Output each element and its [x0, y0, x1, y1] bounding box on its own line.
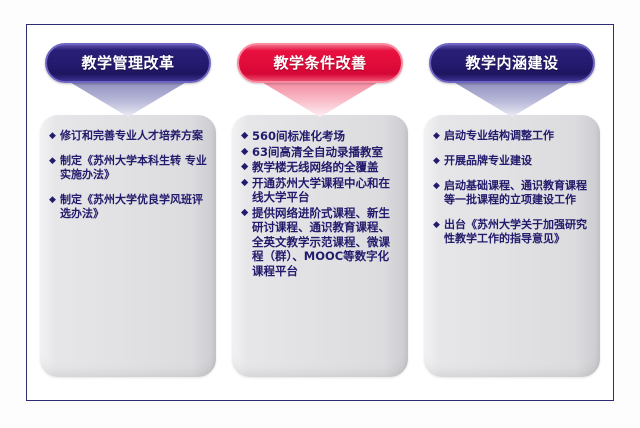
- down-arrow-icon: [260, 81, 380, 117]
- list-item: 制定《苏州大学本科生转 专业实施办法》: [49, 154, 208, 182]
- column-teaching-conditions-improvement: 教学条件改善 560间标准化考场 63间高清全自动录播教室 教学楼无线网络的全覆…: [226, 24, 414, 401]
- header-pill-teaching-connotation-construction[interactable]: 教学内涵建设: [429, 43, 595, 83]
- column-teaching-management-reform: 教学管理改革 修订和完善专业人才培养方案 制定《苏州大学本科生转 专业实施办法》…: [34, 24, 222, 401]
- list-item: 63间高清全自动录播教室: [241, 145, 400, 160]
- header-pill-teaching-management-reform[interactable]: 教学管理改革: [45, 43, 211, 83]
- content-panel-teaching-conditions-improvement: 560间标准化考场 63间高清全自动录播教室 教学楼无线网络的全覆盖 开通苏州大…: [232, 115, 408, 377]
- down-arrow-icon: [452, 81, 572, 117]
- list-item: 开展品牌专业建设: [433, 154, 592, 168]
- list-item: 560间标准化考场: [241, 129, 400, 144]
- content-panel-teaching-connotation-construction: 启动专业结构调整工作 开展品牌专业建设 启动基础课程、通识教育课程等一批课程的立…: [424, 115, 600, 377]
- list-item: 启动基础课程、通识教育课程等一批课程的立项建设工作: [433, 179, 592, 207]
- list-item: 制定《苏州大学优良学风班评选办法》: [49, 193, 208, 221]
- header-pill-label: 教学管理改革: [81, 56, 174, 71]
- list-item: 教学楼无线网络的全覆盖: [241, 160, 400, 175]
- header-pill-label: 教学内涵建设: [465, 56, 558, 71]
- list-item: 出台《苏州大学关于加强研究性教学工作的指导意见》: [433, 218, 592, 246]
- header-pill-teaching-conditions-improvement[interactable]: 教学条件改善: [237, 43, 403, 83]
- header-pill-label: 教学条件改善: [273, 56, 366, 71]
- content-panel-teaching-management-reform: 修订和完善专业人才培养方案 制定《苏州大学本科生转 专业实施办法》 制定《苏州大…: [40, 115, 216, 377]
- bullet-list: 560间标准化考场 63间高清全自动录播教室 教学楼无线网络的全覆盖 开通苏州大…: [241, 129, 400, 278]
- list-item: 提供网络进阶式课程、新生研讨课程、通识教育课程、全英文教学示范课程、微课程（群）…: [241, 206, 400, 279]
- down-arrow-icon: [68, 81, 188, 117]
- three-column-layout: 教学管理改革 修订和完善专业人才培养方案 制定《苏州大学本科生转 专业实施办法》…: [26, 24, 614, 401]
- bullet-list: 修订和完善专业人才培养方案 制定《苏州大学本科生转 专业实施办法》 制定《苏州大…: [49, 129, 208, 221]
- list-item: 修订和完善专业人才培养方案: [49, 129, 208, 143]
- column-teaching-connotation-construction: 教学内涵建设 启动专业结构调整工作 开展品牌专业建设 启动基础课程、通识教育课程…: [418, 24, 606, 401]
- list-item: 启动专业结构调整工作: [433, 129, 592, 143]
- list-item: 开通苏州大学课程中心和在线大学平台: [241, 176, 400, 205]
- bullet-list: 启动专业结构调整工作 开展品牌专业建设 启动基础课程、通识教育课程等一批课程的立…: [433, 129, 592, 246]
- slide-canvas: 教学管理改革 修订和完善专业人才培养方案 制定《苏州大学本科生转 专业实施办法》…: [0, 0, 640, 428]
